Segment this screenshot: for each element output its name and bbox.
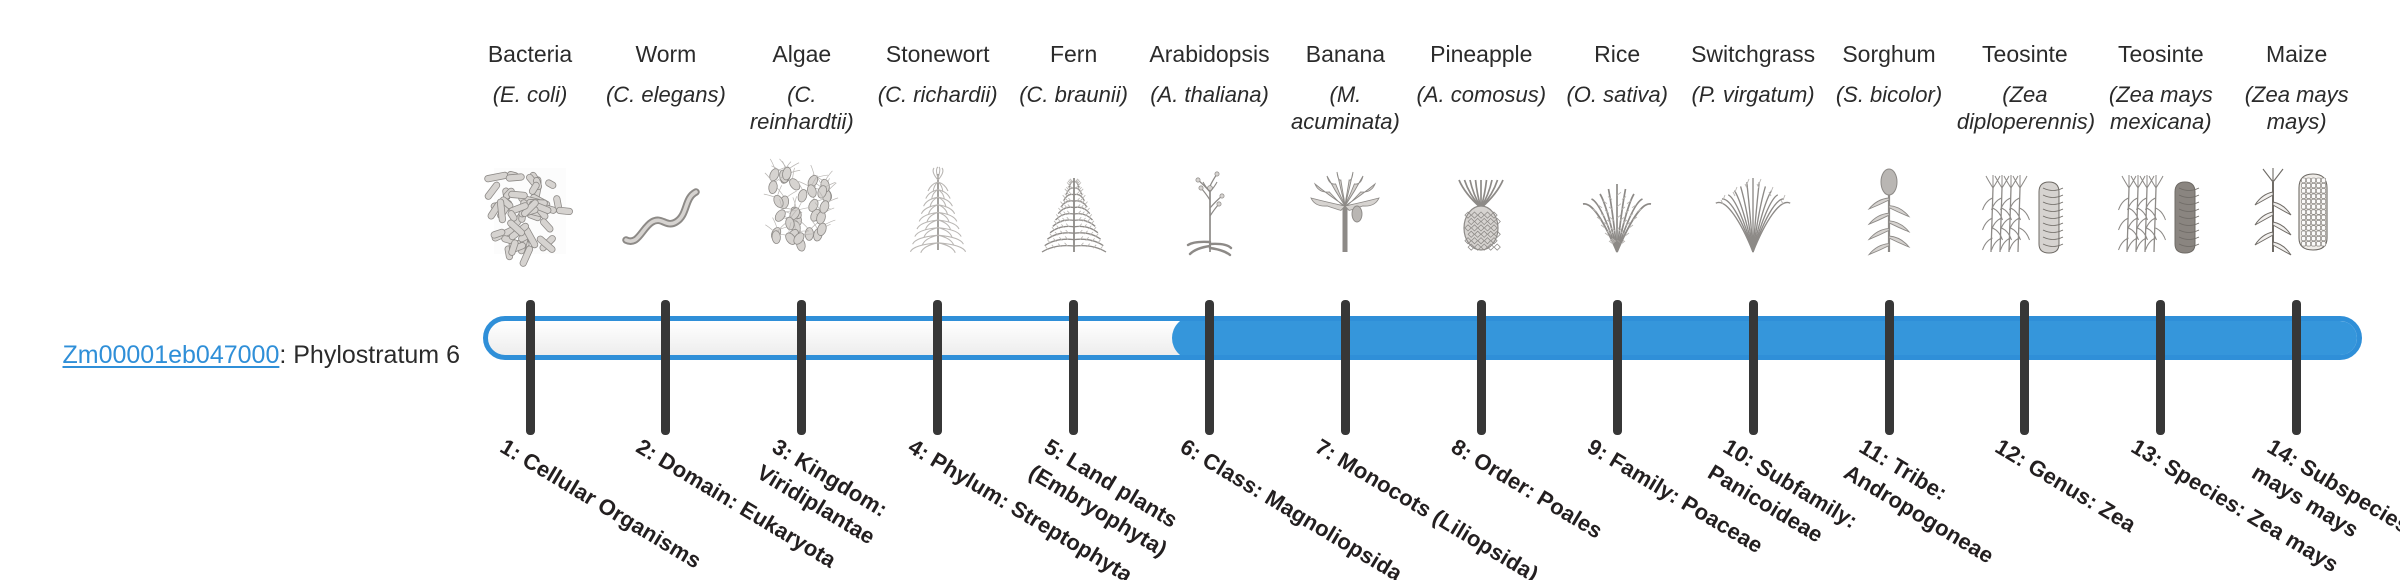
- species-scientific-name: (Zea mays mays): [2229, 82, 2365, 138]
- timeline-tick[interactable]: [933, 300, 942, 435]
- pineapple-illustration: [1419, 162, 1543, 254]
- phylostratum-timeline: [0, 300, 2400, 440]
- timeline-tick[interactable]: [1341, 300, 1350, 435]
- species-common-name: Worm: [598, 40, 734, 70]
- timeline-tick[interactable]: [1885, 300, 1894, 435]
- maize-illustration: [2235, 162, 2359, 254]
- phylostratum-widget: Zm00001eb047000: Phylostratum 6 Bacteria…: [0, 0, 2400, 580]
- timeline-tick[interactable]: [2156, 300, 2165, 435]
- species-common-name: Arabidopsis: [1142, 40, 1278, 70]
- taxonomy-rank-text: Genus: Zea: [2019, 450, 2141, 537]
- species-scientific-name: (E. coli): [462, 82, 598, 138]
- arabidopsis-illustration: [1148, 162, 1272, 254]
- bacteria-illustration: [468, 162, 592, 254]
- species-scientific-name: (A. thaliana): [1142, 82, 1278, 138]
- species-column: Arabidopsis(A. thaliana): [1142, 40, 1278, 138]
- rice-illustration: [1555, 162, 1679, 254]
- species-column: Sorghum(S. bicolor): [1821, 40, 1957, 138]
- teosinte-mexicana-illustration: [2099, 162, 2223, 254]
- taxonomy-rank-row: 1: Cellular Organisms2: Domain: Eukaryot…: [0, 432, 2400, 580]
- species-column: Switchgrass(P. virgatum): [1685, 40, 1821, 138]
- species-column: Algae(C. reinhardtii): [734, 40, 870, 138]
- species-header-row: Bacteria(E. coli)Worm(C. elegans)Algae(C…: [462, 40, 2362, 300]
- species-scientific-name: (M. acuminata): [1277, 82, 1413, 138]
- species-column: Maize(Zea mays mays): [2229, 40, 2365, 138]
- species-common-name: Teosinte: [2093, 40, 2229, 70]
- species-scientific-name: (A. comosus): [1413, 82, 1549, 138]
- species-common-name: Sorghum: [1821, 40, 1957, 70]
- algae-illustration: [740, 162, 864, 254]
- timeline-tick[interactable]: [2292, 300, 2301, 435]
- timeline-tick[interactable]: [797, 300, 806, 435]
- teosinte-illustration: [1963, 162, 2087, 254]
- species-common-name: Stonewort: [870, 40, 1006, 70]
- species-scientific-name: (S. bicolor): [1821, 82, 1957, 138]
- worm-illustration: [604, 162, 728, 254]
- timeline-tick[interactable]: [1205, 300, 1214, 435]
- species-common-name: Algae: [734, 40, 870, 70]
- fern-illustration: [1012, 162, 1136, 254]
- species-scientific-name: (P. virgatum): [1685, 82, 1821, 138]
- banana-illustration: [1283, 162, 1407, 254]
- species-scientific-name: (O. sativa): [1549, 82, 1685, 138]
- species-column: Bacteria(E. coli): [462, 40, 598, 138]
- species-common-name: Pineapple: [1413, 40, 1549, 70]
- taxonomy-rank-label: 3: Kingdom: Viridiplantae: [751, 432, 1004, 580]
- species-column: Worm(C. elegans): [598, 40, 734, 138]
- taxonomy-rank-label: 1: Cellular Organisms: [495, 432, 733, 580]
- species-scientific-name: (Zea diploperennis): [1957, 82, 2093, 138]
- timeline-tick[interactable]: [1069, 300, 1078, 435]
- stonewort-illustration: [876, 162, 1000, 254]
- species-column: Rice(O. sativa): [1549, 40, 1685, 138]
- species-common-name: Teosinte: [1957, 40, 2093, 70]
- species-common-name: Bacteria: [462, 40, 598, 70]
- sorghum-illustration: [1827, 162, 1951, 254]
- species-scientific-name: (C. elegans): [598, 82, 734, 138]
- species-column: Teosinte(Zea mays mexicana): [2093, 40, 2229, 138]
- species-common-name: Rice: [1549, 40, 1685, 70]
- timeline-tick[interactable]: [1477, 300, 1486, 435]
- species-column: Teosinte(Zea diploperennis): [1957, 40, 2093, 138]
- species-scientific-name: (C. braunii): [1006, 82, 1142, 138]
- switchgrass-illustration: [1691, 162, 1815, 254]
- species-scientific-name: (Zea mays mexicana): [2093, 82, 2229, 138]
- timeline-tick[interactable]: [661, 300, 670, 435]
- species-common-name: Switchgrass: [1685, 40, 1821, 70]
- species-common-name: Fern: [1006, 40, 1142, 70]
- timeline-tick[interactable]: [526, 300, 535, 435]
- species-column: Banana(M. acuminata): [1277, 40, 1413, 138]
- timeline-track[interactable]: [483, 316, 2362, 360]
- species-scientific-name: (C. richardii): [870, 82, 1006, 138]
- species-column: Pineapple(A. comosus): [1413, 40, 1549, 138]
- taxonomy-rank-label: 5: Land plants (Embryophyta): [1023, 432, 1276, 580]
- species-column: Stonewort(C. richardii): [870, 40, 1006, 138]
- timeline-tick[interactable]: [1749, 300, 1758, 435]
- timeline-tick[interactable]: [2020, 300, 2029, 435]
- species-common-name: Maize: [2229, 40, 2365, 70]
- species-scientific-name: (C. reinhardtii): [734, 82, 870, 138]
- species-column: Fern(C. braunii): [1006, 40, 1142, 138]
- timeline-fill: [1172, 316, 2362, 360]
- species-common-name: Banana: [1277, 40, 1413, 70]
- timeline-tick[interactable]: [1613, 300, 1622, 435]
